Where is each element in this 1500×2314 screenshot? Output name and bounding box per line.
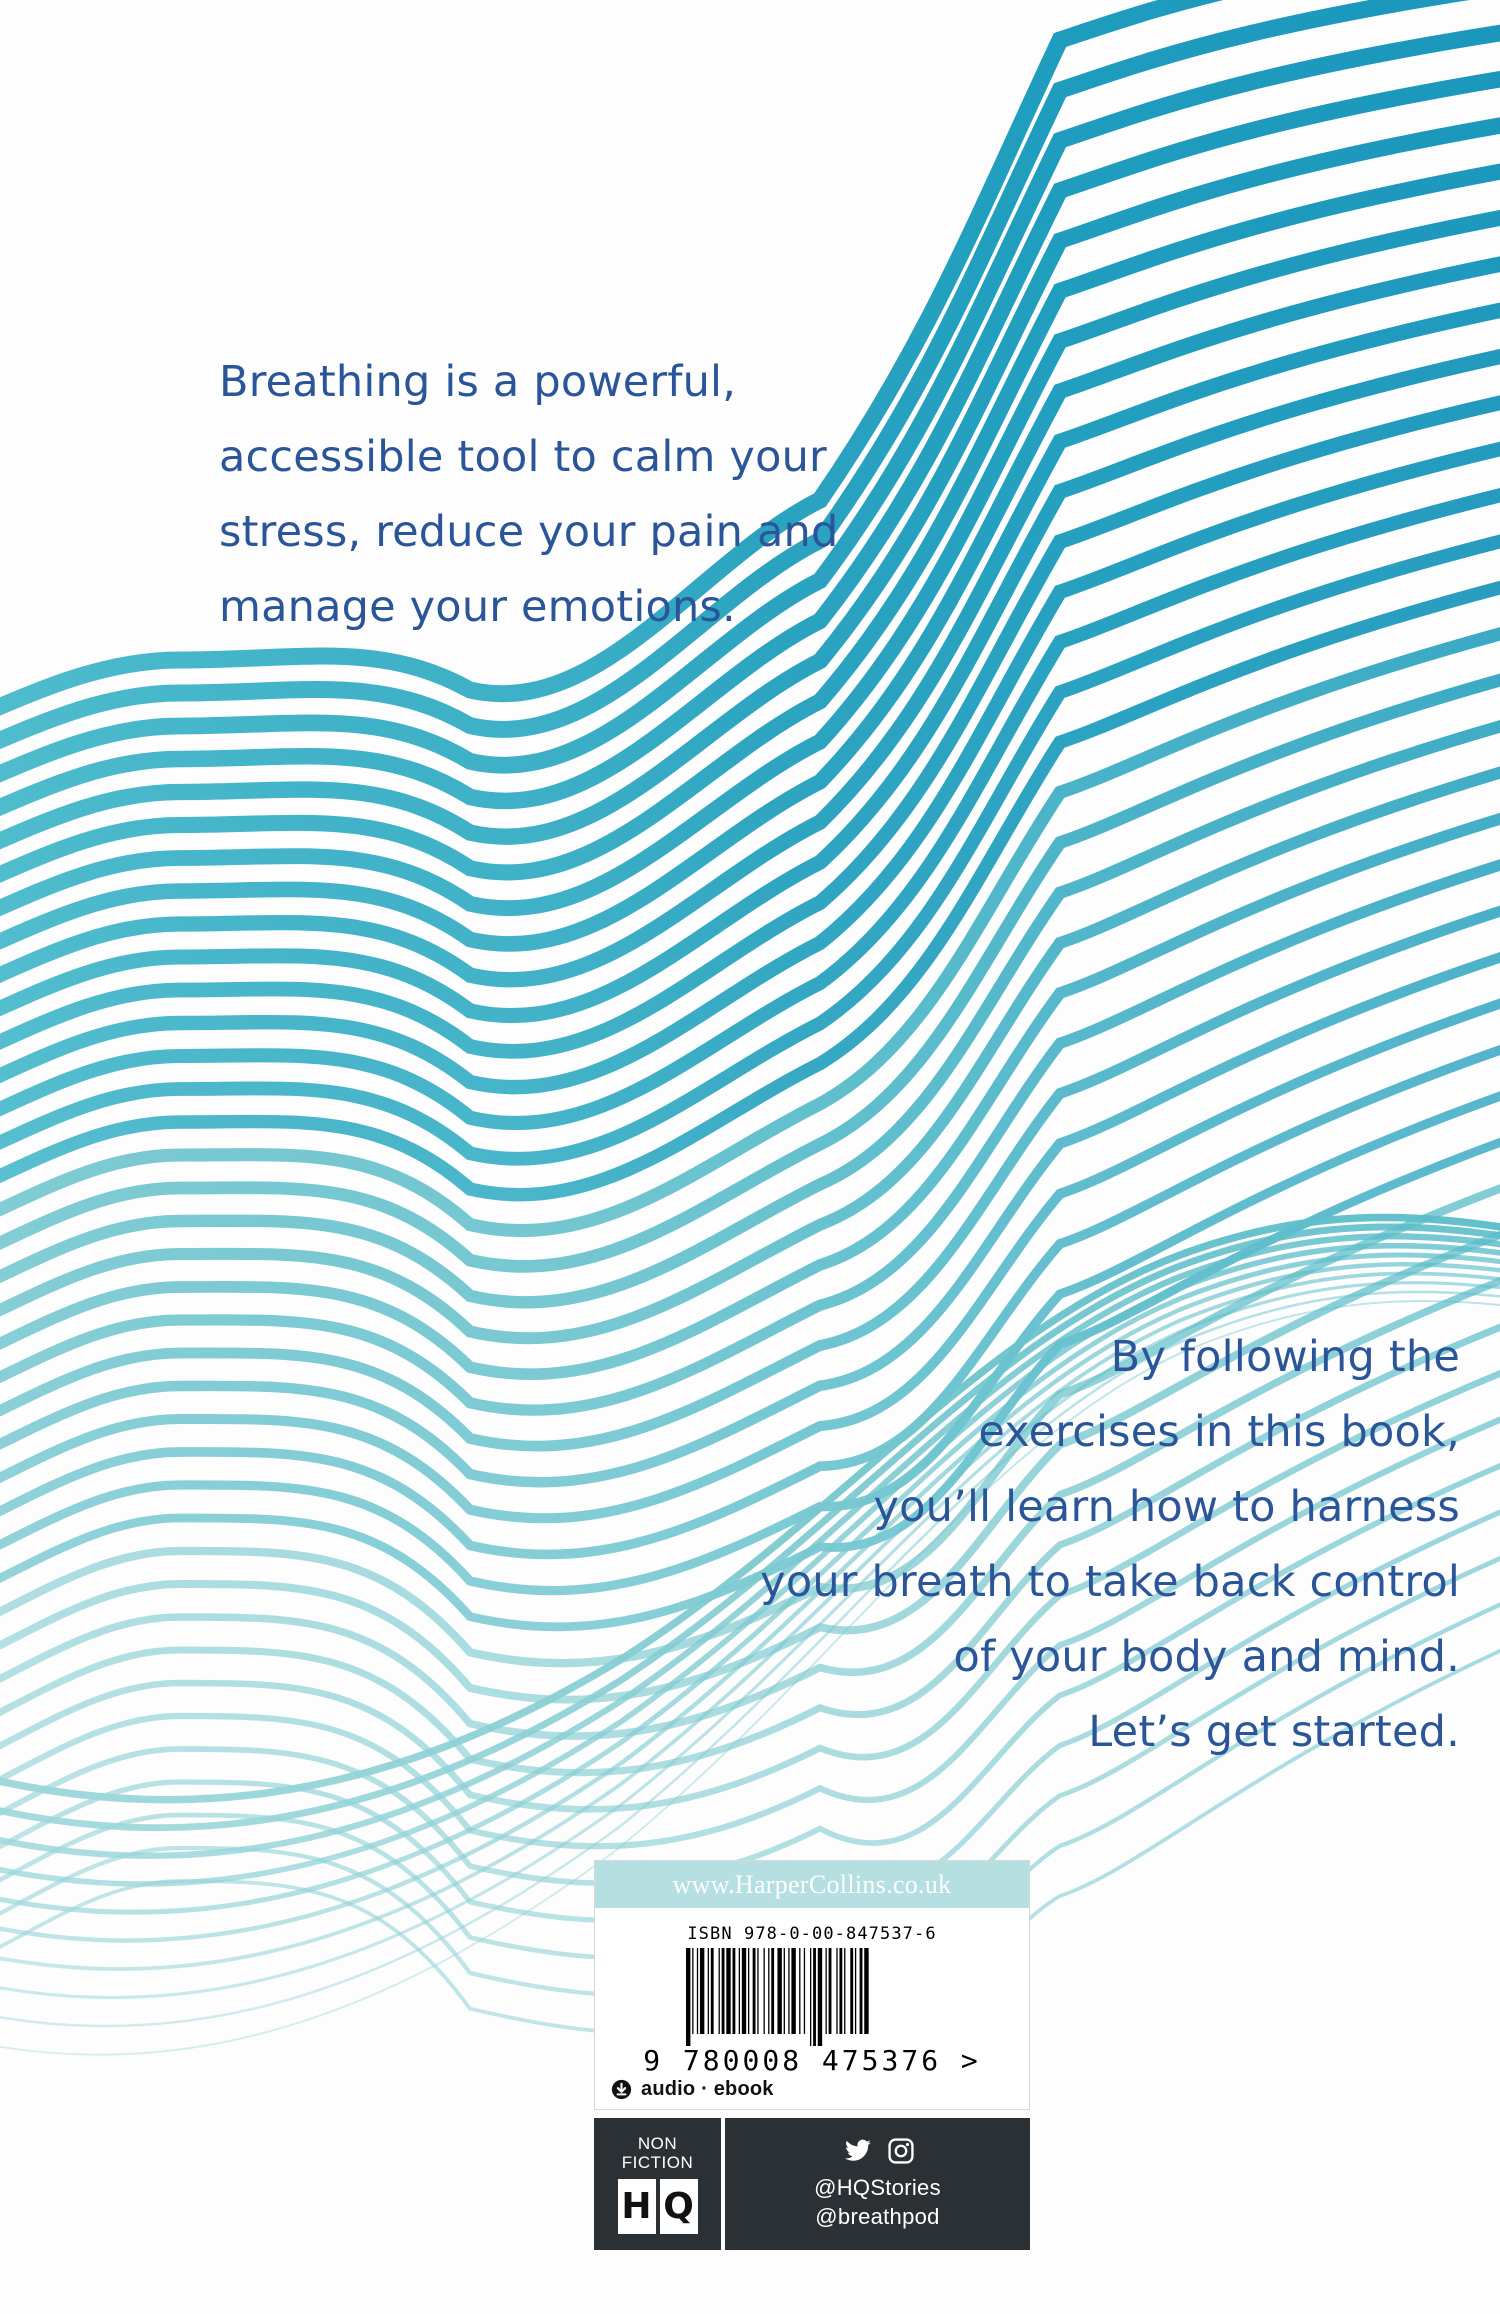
- barcode-bar: [788, 1948, 789, 2034]
- barcode-bar: [757, 1948, 758, 2034]
- barcode-bar: [810, 1948, 811, 2046]
- blurb-bottom-line-6: Let’s get started.: [660, 1695, 1460, 1770]
- hq-letter-q: Q: [660, 2179, 698, 2234]
- barcode-bar: [804, 1948, 805, 2034]
- barcode-bar: [719, 1948, 720, 2034]
- barcode-bar: [836, 1948, 837, 2034]
- barcode-bar: [850, 1948, 853, 2034]
- hq-letter-h: H: [618, 2179, 656, 2234]
- barcode-bar: [768, 1948, 769, 2034]
- blurb-bottom-line-3: you’ll learn how to harness: [660, 1470, 1460, 1545]
- barcode-bar: [739, 1948, 740, 2034]
- isbn-label: ISBN 978-0-00-847537-6: [595, 1924, 1029, 1944]
- logo-strip: NON FICTION H Q @HQStories @breathpod: [594, 2118, 1030, 2250]
- barcode-bar: [818, 1948, 822, 2046]
- barcode-bar: [692, 1948, 693, 2034]
- barcode-bar: [839, 1948, 842, 2034]
- blurb-top-line-4: manage your emotions.: [219, 570, 879, 645]
- book-back-cover: Breathing is a powerful, accessible tool…: [0, 0, 1500, 2314]
- barcode-bar: [742, 1948, 746, 2034]
- barcode-bar: [791, 1948, 795, 2034]
- barcode-panel: www.HarperCollins.co.uk ISBN 978-0-00-84…: [594, 1860, 1030, 2110]
- social-handle-author[interactable]: @breathpod: [815, 2202, 939, 2231]
- social-handle-publisher[interactable]: @HQStories: [814, 2173, 941, 2202]
- barcode-bar: [826, 1948, 827, 2034]
- barcode-bar: [855, 1948, 856, 2034]
- barcode-bar: [722, 1948, 725, 2034]
- barcode-bar: [864, 1948, 868, 2034]
- barcode-bar: [844, 1948, 845, 2034]
- hq-logo-fiction: FICTION: [622, 2153, 694, 2172]
- barcode-bar: [777, 1948, 781, 2034]
- ean-digits: 9 780008 475376 >: [595, 2044, 1029, 2077]
- publisher-url[interactable]: www.HarperCollins.co.uk: [673, 1870, 952, 1900]
- blurb-top-line-2: accessible tool to calm your: [219, 420, 879, 495]
- barcode-bar: [700, 1948, 704, 2034]
- hq-logo-letters: H Q: [618, 2179, 698, 2234]
- barcode-bar: [813, 1948, 816, 2046]
- barcode-bar: [829, 1948, 832, 2034]
- barcode-bar: [753, 1948, 756, 2034]
- blurb-bottom: By following the exercises in this book,…: [660, 1320, 1460, 1770]
- blurb-top: Breathing is a powerful, accessible tool…: [219, 345, 879, 645]
- blurb-top-line-1: Breathing is a powerful,: [219, 345, 879, 420]
- audio-ebook-label: audio · ebook: [641, 2078, 774, 2101]
- hq-logo-non: NON: [638, 2134, 677, 2153]
- barcode-bar: [686, 1948, 690, 2046]
- barcode-bar: [697, 1948, 698, 2034]
- barcode-bar: [748, 1948, 749, 2034]
- barcode-bar: [711, 1948, 714, 2034]
- barcode-bar: [733, 1948, 736, 2034]
- twitter-icon[interactable]: [841, 2137, 875, 2165]
- hq-nonfiction-logo: NON FICTION H Q: [594, 2118, 721, 2250]
- barcode-bar: [784, 1948, 785, 2034]
- audio-ebook-row: audio · ebook: [611, 2078, 774, 2101]
- barcode-bars: [686, 1948, 938, 2046]
- blurb-bottom-line-2: exercises in this book,: [660, 1395, 1460, 1470]
- barcode-bar: [860, 1948, 863, 2034]
- barcode-bar: [764, 1948, 765, 2034]
- hq-logo-text: NON FICTION: [622, 2134, 694, 2172]
- blurb-bottom-line-4: your breath to take back control: [660, 1545, 1460, 1620]
- barcode-bar: [726, 1948, 730, 2034]
- barcode-bar: [708, 1948, 709, 2034]
- publisher-url-band: www.HarperCollins.co.uk: [595, 1861, 1029, 1908]
- blurb-bottom-line-1: By following the: [660, 1320, 1460, 1395]
- social-box: @HQStories @breathpod: [725, 2118, 1030, 2250]
- barcode-bar: [771, 1948, 774, 2034]
- instagram-icon[interactable]: [887, 2137, 915, 2165]
- blurb-top-line-3: stress, reduce your pain and: [219, 495, 879, 570]
- download-arrow-icon: [611, 2079, 632, 2100]
- barcode-bar: [799, 1948, 800, 2034]
- blurb-bottom-line-5: of your body and mind.: [660, 1620, 1460, 1695]
- social-icons: [841, 2137, 915, 2165]
